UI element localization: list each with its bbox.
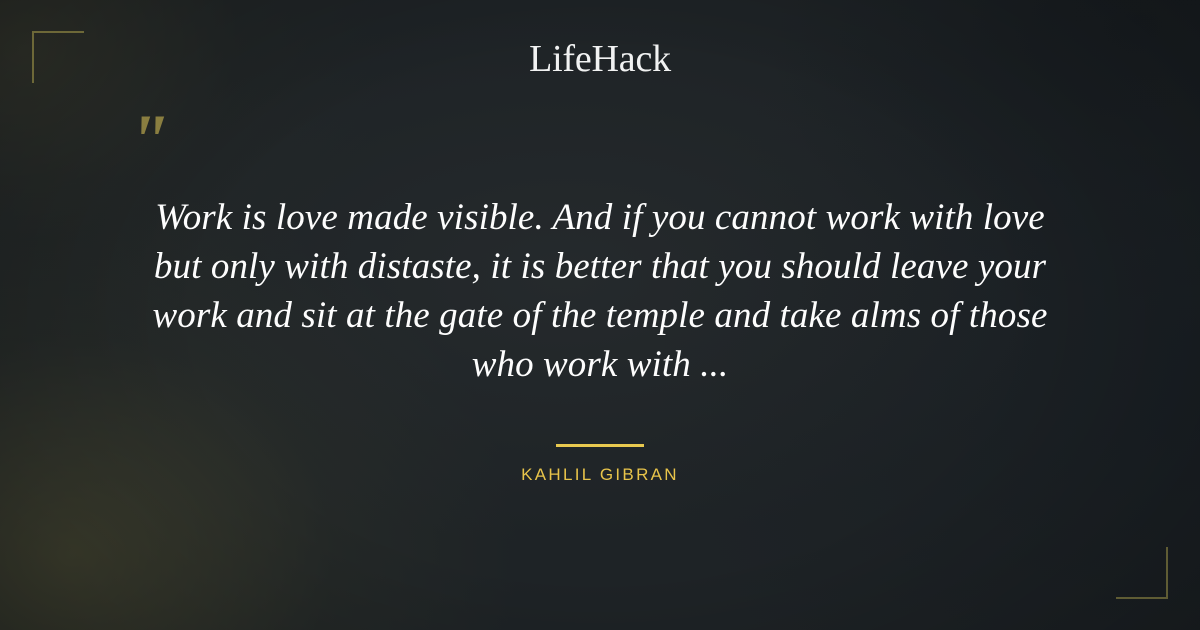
- corner-bracket-bottom-right: [1116, 547, 1168, 599]
- divider-container: [0, 434, 1200, 452]
- quote-author: KAHLIL GIBRAN: [0, 464, 1200, 486]
- quote-line: work and sit at the gate of the temple a…: [92, 291, 1108, 340]
- quote-text-block: Work is love made visible. And if you ca…: [92, 193, 1108, 389]
- quote-card: LifeHack " Work is love made visible. An…: [0, 0, 1200, 630]
- quote-line: Work is love made visible. And if you ca…: [92, 193, 1108, 242]
- quote-line: who work with ...: [92, 340, 1108, 389]
- gold-divider-rule: [556, 444, 644, 447]
- lifehack-logo[interactable]: LifeHack: [0, 40, 1200, 78]
- quote-line: but only with distaste, it is better tha…: [92, 242, 1108, 291]
- quotation-mark-icon: ": [128, 104, 169, 178]
